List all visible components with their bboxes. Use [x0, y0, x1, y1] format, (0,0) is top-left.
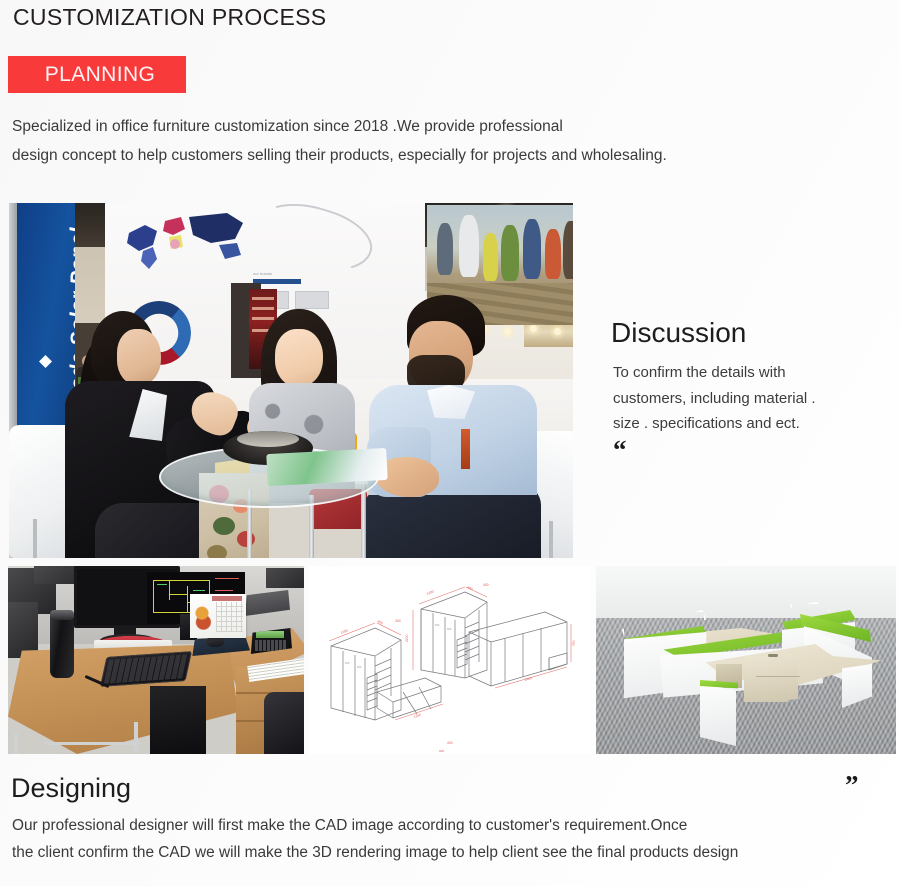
svg-text:1200: 1200: [413, 713, 422, 719]
designing-line-2: the client confirm the CAD we will make …: [12, 839, 870, 866]
status-badge: PLANNING: [8, 56, 186, 93]
keyboard: [100, 651, 192, 687]
bottle-cap: [50, 610, 74, 620]
svg-text:600: 600: [447, 627, 452, 631]
cad-drawing: 1200 400 400 2200 1200 400 400 2400 750 …: [309, 566, 591, 754]
bowl-contents: [237, 431, 299, 447]
svg-text:2400: 2400: [524, 676, 532, 682]
person-left-face: [117, 329, 161, 385]
status-badge-label: PLANNING: [39, 63, 156, 87]
cabinet-handle: [768, 654, 778, 657]
desk-legs: [14, 716, 134, 754]
gallery-row: 1200 400 400 2200 1200 400 400 2400 750 …: [0, 566, 900, 758]
desk-photo: [8, 566, 304, 754]
svg-text:400: 400: [467, 585, 474, 591]
svg-text:600: 600: [439, 749, 444, 753]
discussion-photo: our brands F: [9, 203, 573, 558]
office-chair: [264, 692, 304, 754]
svg-text:400: 400: [395, 619, 401, 623]
quote-close-icon: ”: [845, 772, 859, 799]
person-centre-face: [275, 329, 323, 387]
designing-title: Designing: [11, 773, 131, 804]
green-brochure: [266, 448, 388, 486]
water-bottle: [50, 612, 74, 678]
svg-text:2200: 2200: [405, 634, 409, 642]
person-right-lanyard: [461, 429, 470, 469]
svg-text:1200: 1200: [426, 589, 435, 595]
svg-text:600: 600: [345, 661, 350, 665]
svg-text:400: 400: [377, 619, 384, 625]
discussion-body: To confirm the details with customers, i…: [613, 360, 897, 437]
quote-open-icon: “: [613, 437, 627, 464]
svg-text:600: 600: [357, 665, 362, 669]
page-title: CUSTOMIZATION PROCESS: [13, 4, 326, 31]
svg-text:400: 400: [447, 741, 453, 745]
discussion-line-1: To confirm the details with: [613, 360, 897, 386]
desk-calendar: [190, 594, 246, 638]
svg-text:600: 600: [435, 623, 440, 627]
world-map-graphic: [123, 211, 253, 273]
cabinet-seam: [756, 676, 800, 677]
discussion-line-2: customers, including material .: [613, 386, 897, 412]
discussion-line-3: size . specifications and ect.: [613, 411, 897, 437]
designing-line-1: Our professional designer will first mak…: [12, 812, 870, 839]
intro-line-1: Specialized in office furniture customiz…: [12, 112, 842, 141]
designing-body: Our professional designer will first mak…: [12, 812, 870, 866]
pedestal-cabinet-right: [758, 654, 798, 702]
svg-text:400: 400: [483, 583, 489, 587]
cad-isometric-svg: 1200 400 400 2200 1200 400 400 2400 750 …: [309, 566, 591, 754]
computer-tower: [150, 686, 206, 754]
product-description-page: CUSTOMIZATION PROCESS PLANNING Specializ…: [0, 0, 900, 886]
intro-line-2: design concept to help customers selling…: [12, 141, 842, 170]
intro-paragraph: Specialized in office furniture customiz…: [12, 112, 842, 170]
discussion-title: Discussion: [611, 317, 746, 349]
base-panel-left: [700, 682, 736, 746]
monitor: [74, 566, 180, 628]
diamond-logo-icon: [39, 355, 52, 368]
svg-text:750: 750: [572, 640, 576, 646]
render-3d: [596, 566, 896, 754]
